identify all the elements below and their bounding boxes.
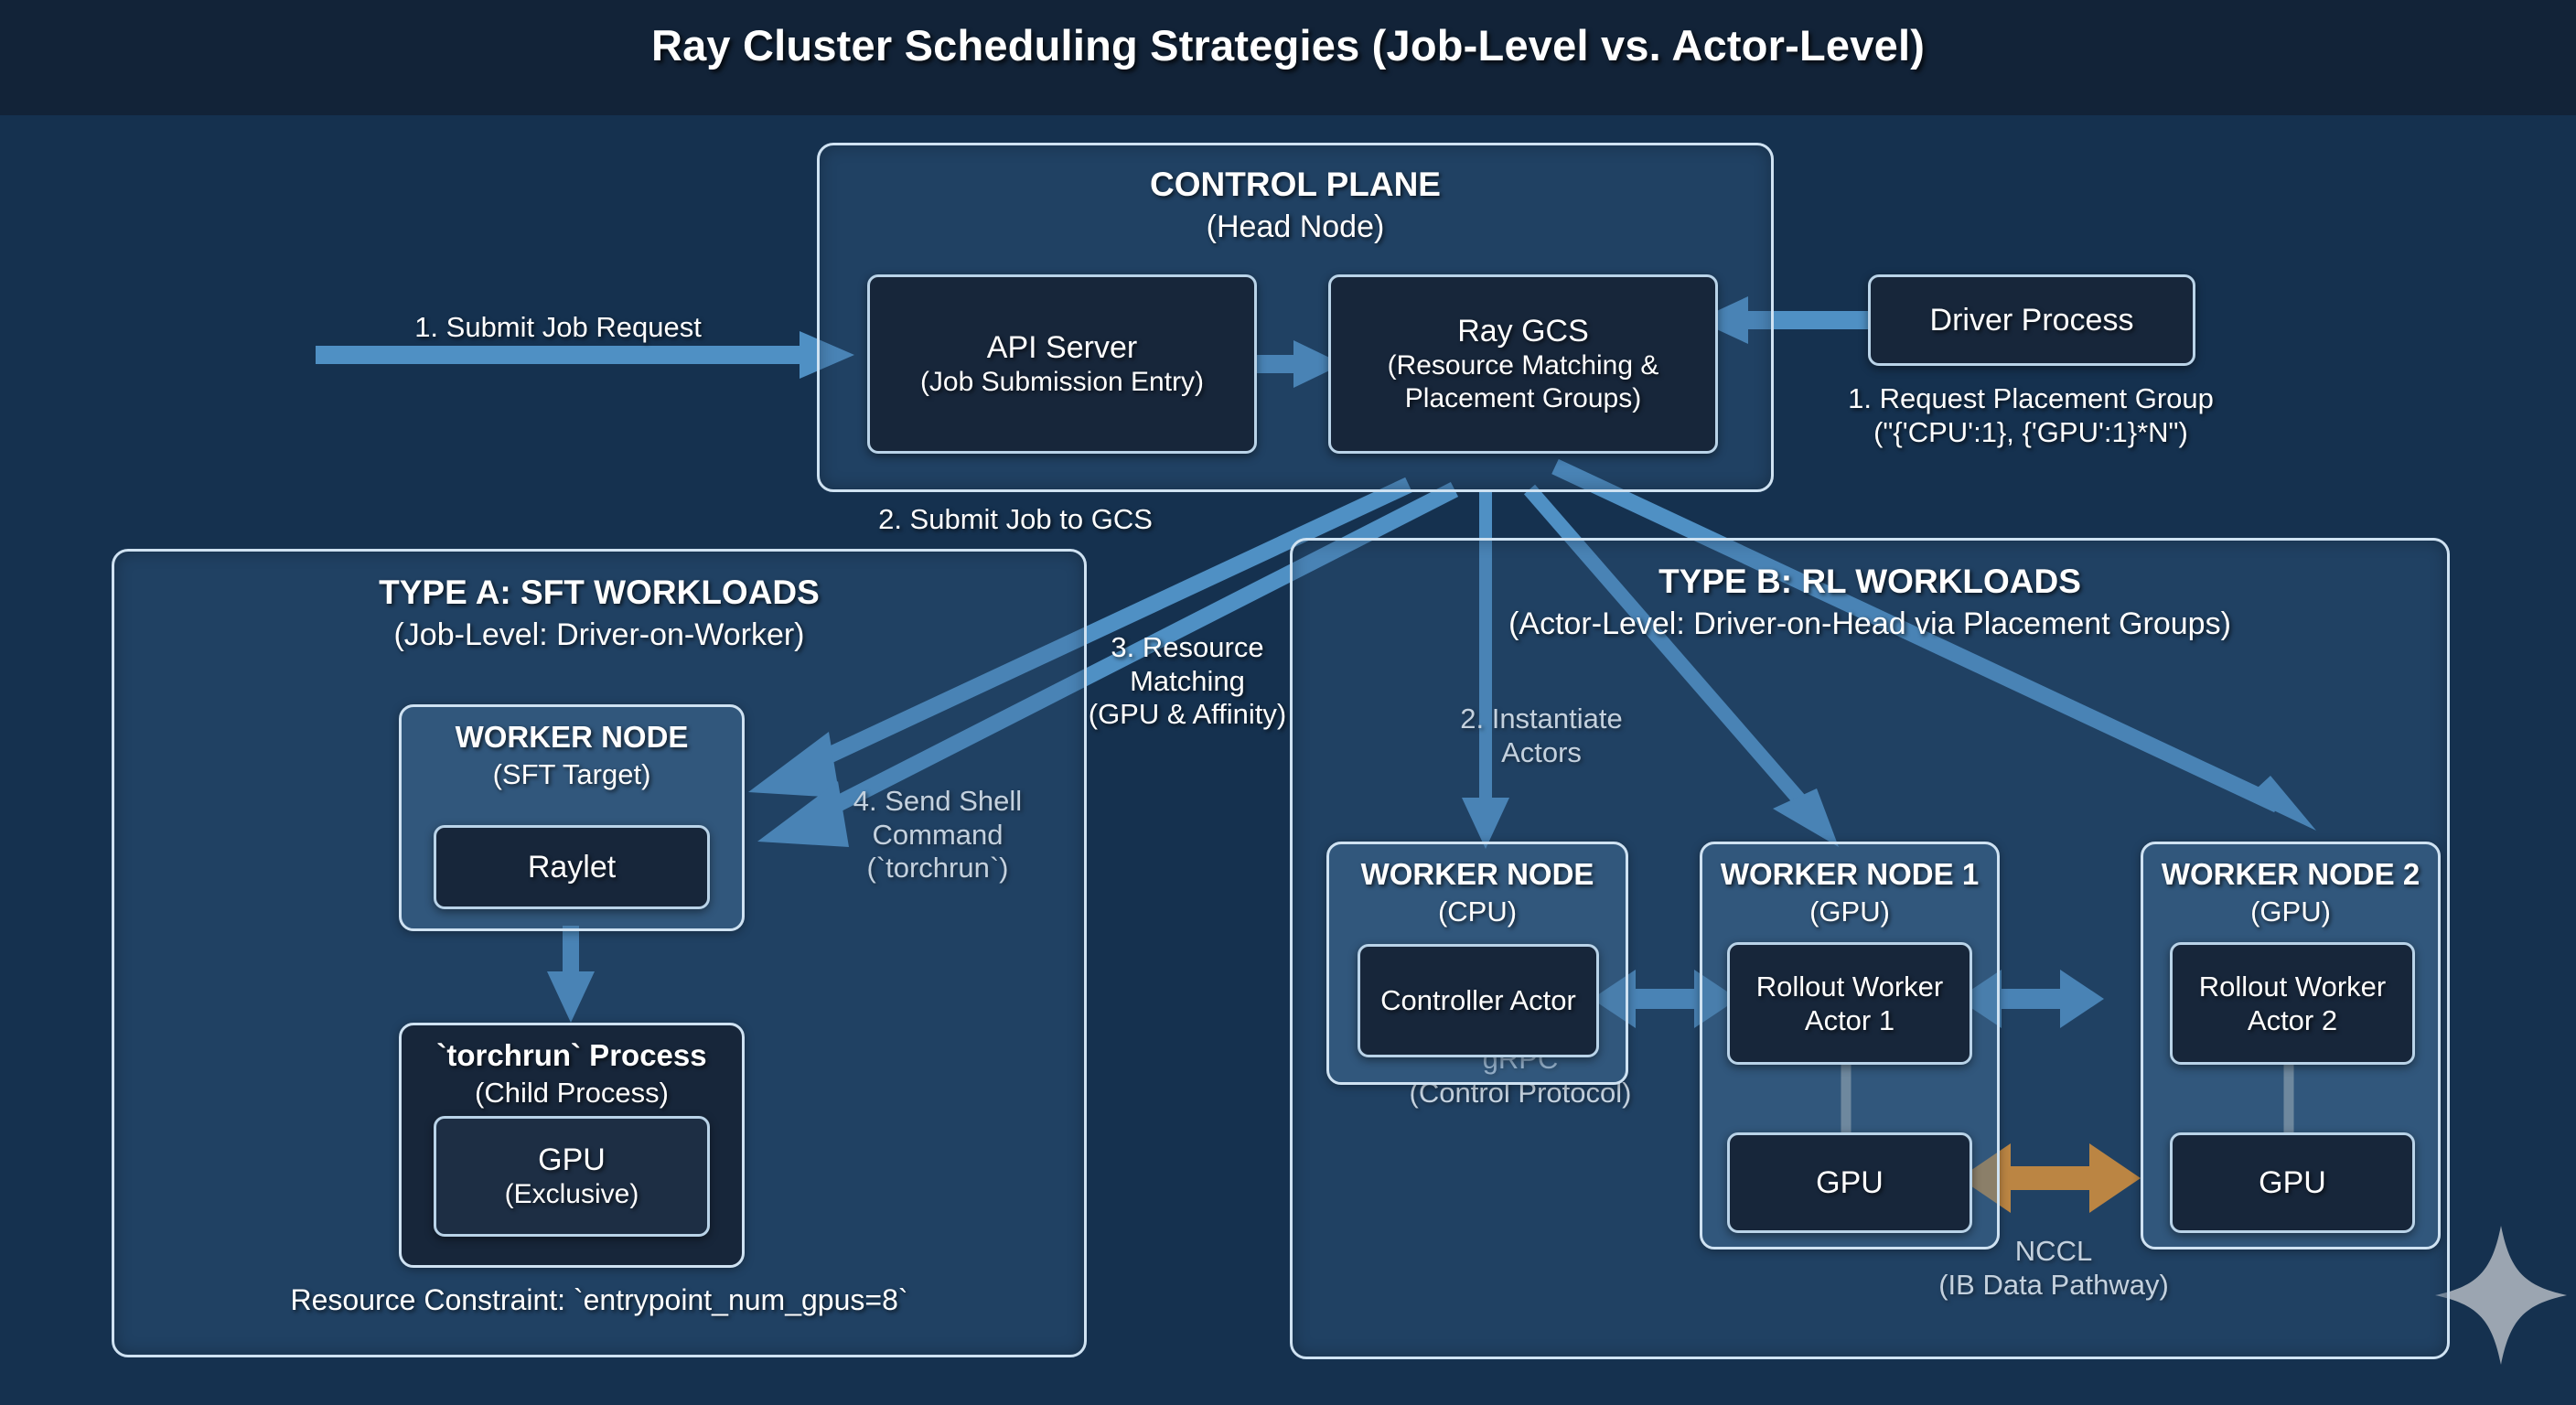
control-plane-subtitle: (Head Node): [820, 209, 1771, 245]
type-b-node0-title: WORKER NODE: [1329, 857, 1626, 892]
ray-gcs-detail-2: Placement Groups): [1405, 382, 1641, 415]
ray-gcs-box[interactable]: Ray GCS (Resource Matching & Placement G…: [1328, 274, 1718, 454]
type-a-footnote: Resource Constraint: `entrypoint_num_gpu…: [114, 1283, 1084, 1317]
type-b-node0-subtitle: (CPU): [1329, 896, 1626, 928]
raylet-label: Raylet: [528, 849, 616, 886]
driver-process-name: Driver Process: [1930, 302, 2134, 339]
rollout-worker-actor-2-box[interactable]: Rollout Worker Actor 2: [2170, 942, 2415, 1065]
type-a-worker-node-title: WORKER NODE: [402, 720, 742, 755]
label-resource-matching: 3. Resource Matching (GPU & Affinity): [1050, 631, 1325, 732]
type-b-node1-gpu-label: GPU: [1816, 1164, 1884, 1202]
driver-process-box[interactable]: Driver Process: [1868, 274, 2195, 366]
diagram-canvas: Ray Cluster Scheduling Strategies (Job-L…: [0, 0, 2576, 1405]
type-a-gpu-box[interactable]: GPU (Exclusive): [434, 1116, 710, 1237]
controller-actor-label: Controller Actor: [1380, 983, 1576, 1017]
type-a-gpu-detail: (Exclusive): [505, 1178, 639, 1211]
rollout-worker-actor-2-line1: Rollout Worker: [2199, 970, 2386, 1003]
api-server-box[interactable]: API Server (Job Submission Entry): [867, 274, 1257, 454]
torchrun-title: `torchrun` Process: [402, 1038, 742, 1073]
api-server-detail: (Job Submission Entry): [920, 366, 1204, 399]
label-submit-job-request: 1. Submit Job Request: [316, 311, 800, 345]
label-request-placement-group-line1: 1. Request Placement Group: [1793, 382, 2269, 416]
type-b-node1-subtitle: (GPU): [1702, 896, 1997, 928]
label-resource-matching-line2: Matching: [1050, 665, 1325, 699]
torchrun-subtitle: (Child Process): [402, 1077, 742, 1110]
ray-gcs-detail-1: (Resource Matching &: [1388, 349, 1659, 382]
type-b-node2-gpu-box[interactable]: GPU: [2170, 1132, 2415, 1233]
label-resource-matching-line1: 3. Resource: [1050, 631, 1325, 665]
type-a-title: TYPE A: SFT WORKLOADS: [114, 574, 1084, 612]
rollout-worker-actor-2-line2: Actor 2: [2248, 1003, 2337, 1037]
type-b-node2-gpu-label: GPU: [2259, 1164, 2326, 1202]
rollout-worker-actor-1-box[interactable]: Rollout Worker Actor 1: [1727, 942, 1972, 1065]
type-b-node2-subtitle: (GPU): [2143, 896, 2438, 928]
type-a-worker-node-subtitle: (SFT Target): [402, 758, 742, 791]
control-plane-title: CONTROL PLANE: [820, 166, 1771, 204]
type-b-node2-title: WORKER NODE 2: [2143, 857, 2438, 892]
sparkle-icon: [2435, 1226, 2567, 1365]
type-b-subtitle: (Actor-Level: Driver-on-Head via Placeme…: [1293, 606, 2447, 642]
api-server-name: API Server: [987, 329, 1137, 367]
type-b-node1-gpu-box[interactable]: GPU: [1727, 1132, 1972, 1233]
type-a-subtitle: (Job-Level: Driver-on-Worker): [114, 617, 1084, 653]
label-submit-job-to-gcs: 2. Submit Job to GCS: [823, 503, 1207, 537]
type-b-node1-title: WORKER NODE 1: [1702, 857, 1997, 892]
rollout-worker-actor-1-line2: Actor 1: [1805, 1003, 1894, 1037]
ray-gcs-name: Ray GCS: [1457, 313, 1589, 350]
label-request-placement-group-line2: ("{'CPU':1}, {'GPU':1}*N"): [1793, 416, 2269, 450]
raylet-box[interactable]: Raylet: [434, 825, 710, 909]
type-b-title: TYPE B: RL WORKLOADS: [1293, 563, 2447, 601]
label-request-placement-group: 1. Request Placement Group ("{'CPU':1}, …: [1793, 382, 2269, 449]
label-resource-matching-line3: (GPU & Affinity): [1050, 698, 1325, 732]
controller-actor-box[interactable]: Controller Actor: [1358, 944, 1599, 1057]
type-a-gpu-label: GPU: [538, 1142, 606, 1179]
rollout-worker-actor-1-line1: Rollout Worker: [1756, 970, 1943, 1003]
